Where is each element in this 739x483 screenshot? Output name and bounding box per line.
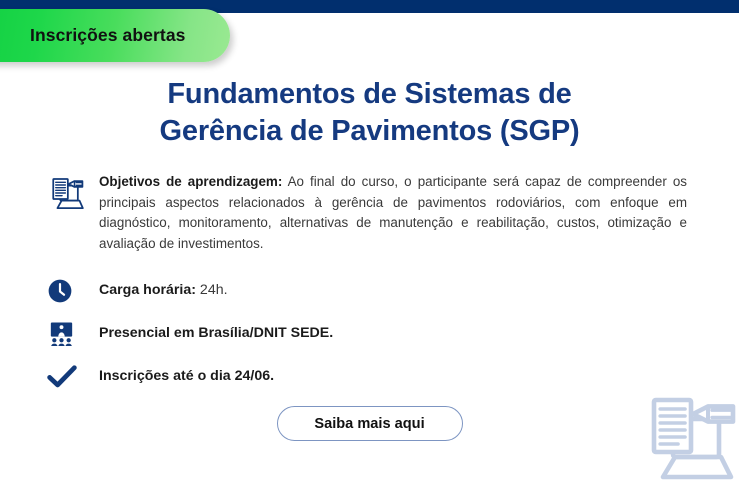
course-poster: Inscrições abertas Fundamentos de Sistem… bbox=[0, 0, 739, 483]
list-item-workload-text: Carga horária: 24h. bbox=[99, 282, 687, 299]
list-item-deadline-label: Inscrições até o dia 24/06. bbox=[99, 368, 274, 384]
list-item-location-text: Presencial em Brasília/DNIT SEDE. bbox=[99, 325, 687, 342]
page-title-line-1: Fundamentos de Sistemas de bbox=[0, 76, 739, 113]
list-item-objectives-label: Objetivos de aprendizagem: bbox=[99, 174, 282, 189]
list-item-objectives: Objetivos de aprendizagem: Ao final do c… bbox=[47, 172, 687, 254]
cta-container: Saiba mais aqui bbox=[0, 406, 739, 441]
list-item-location: Presencial em Brasília/DNIT SEDE. bbox=[47, 313, 687, 355]
page-title-line-2: Gerência de Pavimentos (SGP) bbox=[0, 113, 739, 150]
list-item-deadline-text: Inscrições até o dia 24/06. bbox=[99, 368, 687, 385]
list-item-workload-label: Carga horária: bbox=[99, 282, 196, 298]
classroom-presentation-icon bbox=[47, 320, 99, 349]
check-icon bbox=[47, 364, 99, 390]
course-details-list: Objetivos de aprendizagem: Ao final do c… bbox=[47, 172, 687, 398]
list-item-objectives-text: Objetivos de aprendizagem: Ao final do c… bbox=[99, 172, 687, 254]
status-badge-label: Inscrições abertas bbox=[30, 25, 186, 46]
list-item-location-label: Presencial em Brasília/DNIT SEDE. bbox=[99, 325, 333, 341]
page-title: Fundamentos de Sistemas de Gerência de P… bbox=[0, 76, 739, 150]
laptop-document-pencil-icon bbox=[47, 172, 99, 214]
list-item-workload: Carga horária: 24h. bbox=[47, 270, 687, 312]
list-item-workload-value: 24h. bbox=[196, 282, 228, 298]
status-badge: Inscrições abertas bbox=[0, 9, 230, 62]
clock-icon bbox=[47, 278, 99, 304]
list-item-deadline: Inscrições até o dia 24/06. bbox=[47, 356, 687, 398]
learn-more-button[interactable]: Saiba mais aqui bbox=[277, 406, 463, 441]
